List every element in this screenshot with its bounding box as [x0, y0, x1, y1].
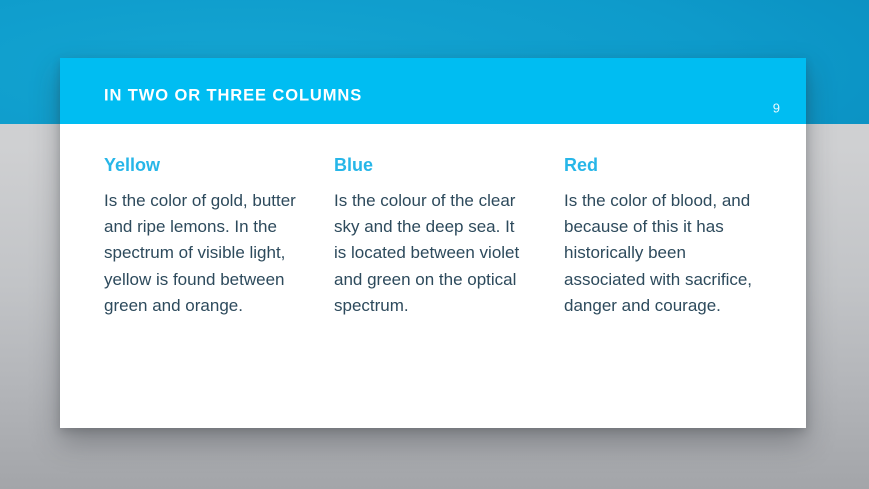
slide-canvas: IN TWO OR THREE COLUMNS 9 Yellow Is the … — [0, 0, 869, 489]
column-blue: Blue Is the colour of the clear sky and … — [334, 156, 530, 320]
column-body-text: Is the color of blood, and because of th… — [564, 188, 760, 320]
column-heading: Yellow — [104, 156, 300, 176]
column-body-text: Is the colour of the clear sky and the d… — [334, 188, 530, 320]
card-header-bar: IN TWO OR THREE COLUMNS 9 — [60, 58, 806, 124]
page-number: 9 — [773, 101, 780, 116]
page-title: IN TWO OR THREE COLUMNS — [104, 87, 362, 106]
column-heading: Red — [564, 156, 760, 176]
columns-container: Yellow Is the color of gold, butter and … — [60, 124, 806, 320]
content-card: IN TWO OR THREE COLUMNS 9 Yellow Is the … — [60, 58, 806, 428]
column-yellow: Yellow Is the color of gold, butter and … — [104, 156, 300, 320]
column-body-text: Is the color of gold, butter and ripe le… — [104, 188, 300, 320]
column-heading: Blue — [334, 156, 530, 176]
column-red: Red Is the color of blood, and because o… — [564, 156, 760, 320]
